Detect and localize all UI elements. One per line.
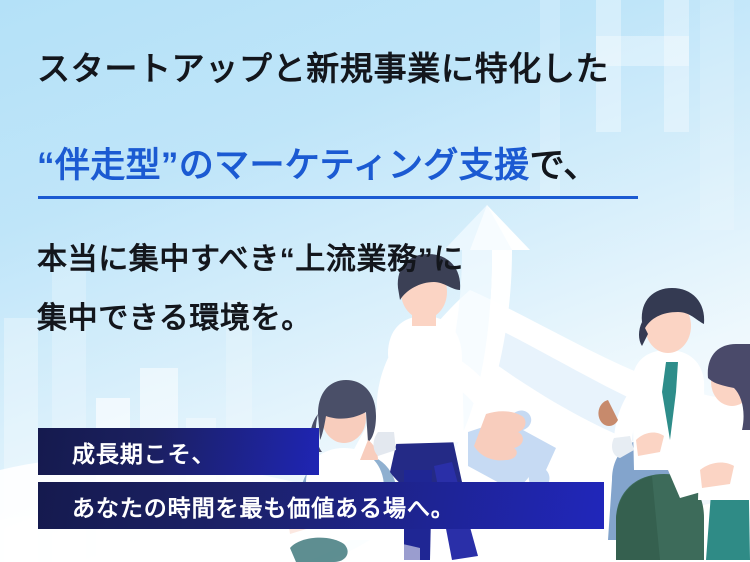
hero-banner: スタートアップと新規事業に特化した “伴走型”のマーケティング支援で、 本当に集…	[0, 0, 750, 562]
headline-line-1: スタートアップと新規事業に特化した	[37, 42, 609, 90]
headline-block: スタートアップと新規事業に特化した “伴走型”のマーケティング支援で、 本当に集…	[0, 0, 750, 562]
banner-secondary: あなたの時間を最も価値ある場へ。	[38, 482, 604, 529]
headline-line-2-tail: で、	[529, 146, 598, 185]
headline-line-3: 本当に集中すべき“上流業務”に	[37, 234, 464, 278]
headline-line-2: “伴走型”のマーケティング支援で、	[37, 137, 599, 188]
banner-primary: 成長期こそ、	[38, 428, 319, 475]
headline-underline	[38, 196, 638, 199]
headline-highlight: “伴走型”のマーケティング支援	[37, 146, 529, 185]
headline-line-4: 集中できる環境を。	[37, 293, 312, 337]
